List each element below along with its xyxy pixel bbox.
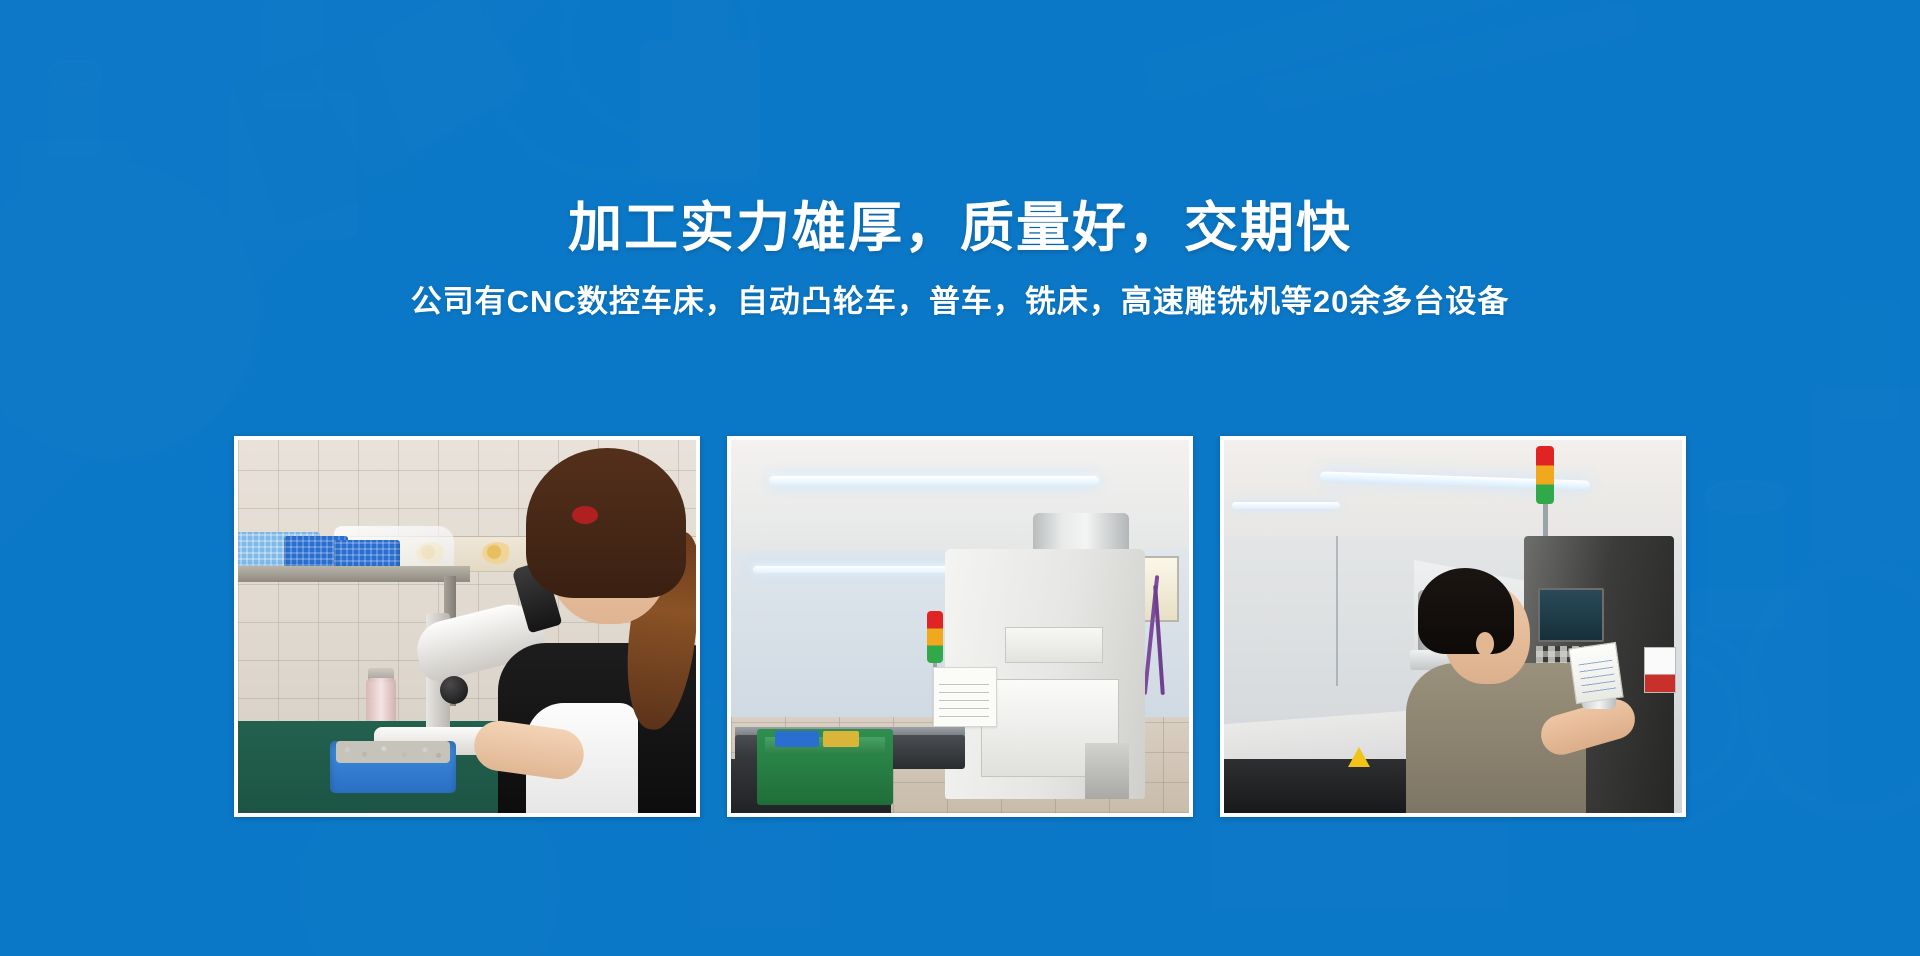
- wall-edge: [1336, 536, 1338, 686]
- promo-banner: 加工实力雄厚，质量好，交期快 公司有CNC数控车床，自动凸轮车，普车，铣床，高速…: [0, 0, 1920, 956]
- machine-sticker: [1644, 647, 1676, 693]
- fluorescent-light: [769, 476, 1099, 485]
- tool-box: [775, 731, 819, 747]
- background-block-icon: [312, 0, 528, 177]
- workshop-ceiling: [1224, 440, 1682, 544]
- fluorescent-light: [1232, 502, 1340, 509]
- signal-tower-light: [1536, 446, 1554, 504]
- signal-tower-light: [927, 611, 943, 663]
- cnc-control-screen: [1538, 588, 1604, 642]
- machine-stand: [1085, 743, 1129, 799]
- photo-machine-operator-image: [1224, 440, 1682, 813]
- metal-parts: [336, 741, 450, 763]
- wall-shelf: [238, 566, 470, 582]
- photo-quality-inspection-image: [238, 440, 696, 813]
- work-instruction-lines: [1578, 655, 1616, 693]
- background-bar-icon: [1142, 0, 1558, 103]
- operator-ear: [1476, 632, 1494, 656]
- background-ring-icon: [560, 0, 760, 140]
- machine-access-panel: [1005, 627, 1103, 663]
- photo-gallery: [234, 436, 1686, 817]
- photo-cnc-workshop[interactable]: [727, 436, 1193, 817]
- inspector-hair: [526, 448, 686, 598]
- page-subtitle: 公司有CNC数控车床，自动凸轮车，普车，铣床，高速雕铣机等20余多台设备: [0, 283, 1920, 322]
- wall-flower-motif: [482, 542, 512, 564]
- photo-cnc-workshop-image: [731, 440, 1189, 813]
- tool-box: [823, 731, 859, 747]
- banner-text-block: 加工实力雄厚，质量好，交期快 公司有CNC数控车床，自动凸轮车，普车，铣床，高速…: [0, 196, 1920, 322]
- hair-tie: [572, 506, 598, 524]
- drawing-lines: [939, 679, 989, 717]
- background-fitting-icon: [640, 0, 760, 180]
- background-fitting-icon: [1810, 300, 1920, 560]
- background-bar-icon: [1261, 1, 1640, 113]
- page-title: 加工实力雄厚，质量好，交期快: [0, 196, 1920, 261]
- signal-tower-pole: [1543, 500, 1548, 540]
- operator-hair: [1418, 568, 1514, 654]
- background-screw-icon: [1210, 820, 1510, 910]
- background-ring-icon: [1740, 560, 1920, 822]
- photo-machine-operator[interactable]: [1220, 436, 1686, 817]
- light-glow: [769, 474, 1099, 490]
- background-ring-icon: [480, 0, 740, 180]
- photo-quality-inspection[interactable]: [234, 436, 700, 817]
- microscope-focus-knob: [440, 676, 468, 704]
